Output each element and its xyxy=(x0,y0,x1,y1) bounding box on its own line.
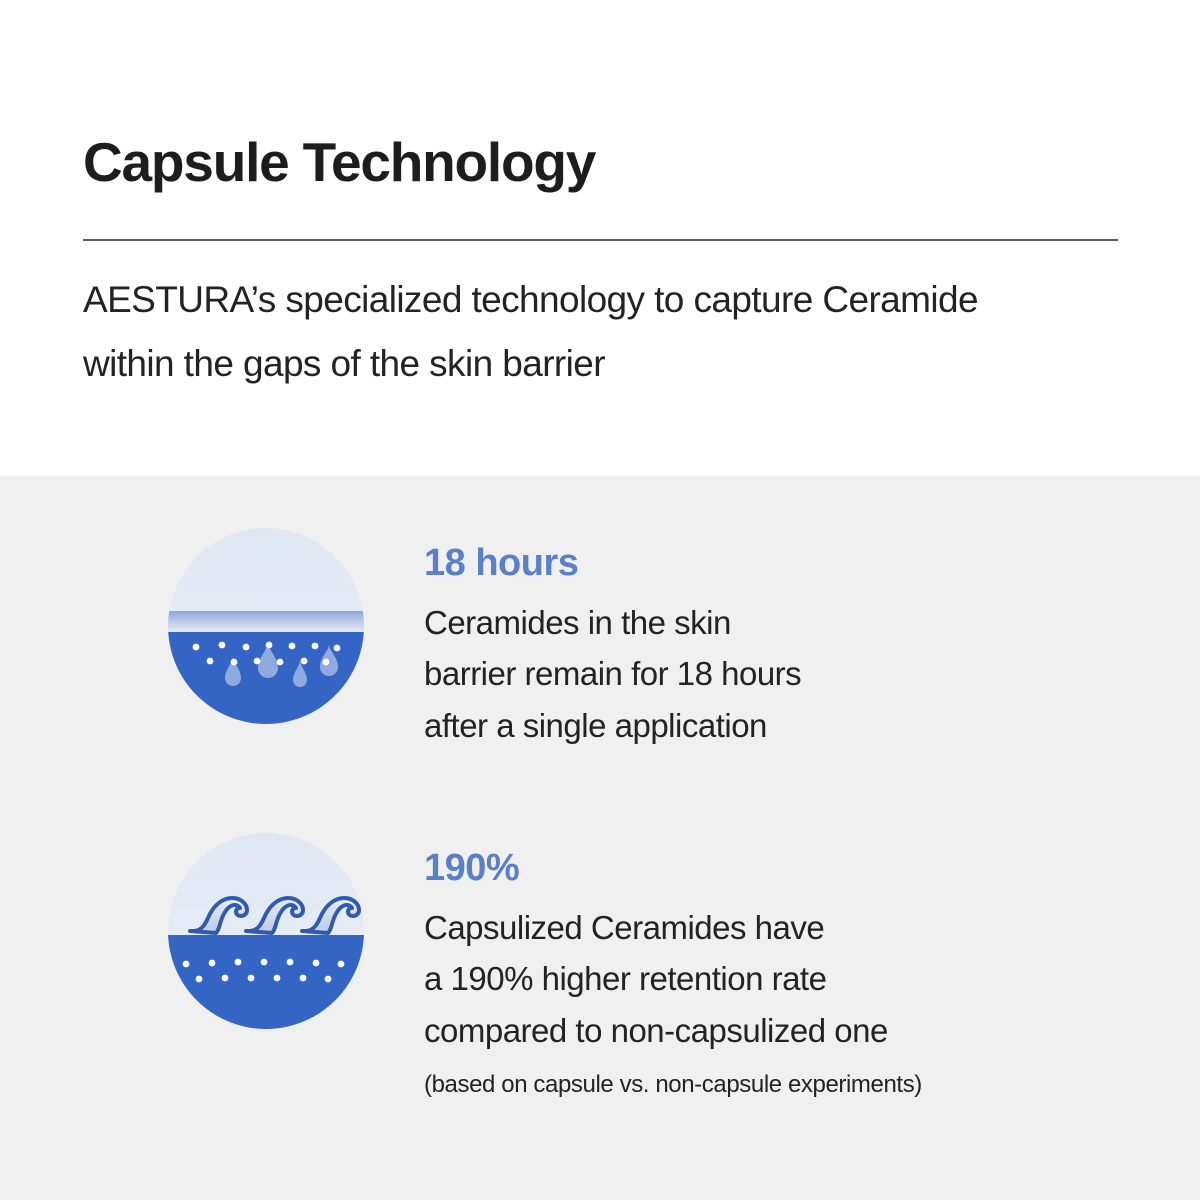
waves-over-skin-barrier-icon xyxy=(168,833,364,1029)
feature-item-190-percent: 190% Capsulized Ceramides have a 190% hi… xyxy=(0,833,922,1102)
description-line-3: compared to non-capsulized one xyxy=(424,1005,922,1056)
feature-text-18-hours: 18 hours Ceramides in the skin barrier r… xyxy=(424,528,801,751)
rain-droplets-in-skin-barrier-icon xyxy=(168,528,364,724)
feature-item-18-hours: 18 hours Ceramides in the skin barrier r… xyxy=(0,528,801,751)
page-subtitle: AESTURA’s specialized technology to capt… xyxy=(83,268,1143,395)
stat-value: 18 hours xyxy=(424,541,801,587)
header-section: Capsule Technology AESTURA’s specialized… xyxy=(0,0,1200,476)
feature-footnote: (based on capsule vs. non-capsule experi… xyxy=(424,1068,922,1102)
description-line-2: barrier remain for 18 hours xyxy=(424,648,801,699)
subtitle-line-2: within the gaps of the skin barrier xyxy=(83,332,1143,396)
title-divider xyxy=(83,239,1118,241)
description-line-2: a 190% higher retention rate xyxy=(424,953,922,1004)
stat-value: 190% xyxy=(424,846,922,892)
page-title: Capsule Technology xyxy=(83,132,595,193)
feature-text-190-percent: 190% Capsulized Ceramides have a 190% hi… xyxy=(424,833,922,1102)
capsule-technology-infographic: Capsule Technology AESTURA’s specialized… xyxy=(0,0,1200,1200)
feature-description: Capsulized Ceramides have a 190% higher … xyxy=(424,902,922,1056)
subtitle-line-1: AESTURA’s specialized technology to capt… xyxy=(83,268,1143,332)
feature-description: Ceramides in the skin barrier remain for… xyxy=(424,597,801,751)
features-panel: 18 hours Ceramides in the skin barrier r… xyxy=(0,476,1200,1200)
description-line-3: after a single application xyxy=(424,700,801,751)
description-line-1: Ceramides in the skin xyxy=(424,597,801,648)
description-line-1: Capsulized Ceramides have xyxy=(424,902,922,953)
